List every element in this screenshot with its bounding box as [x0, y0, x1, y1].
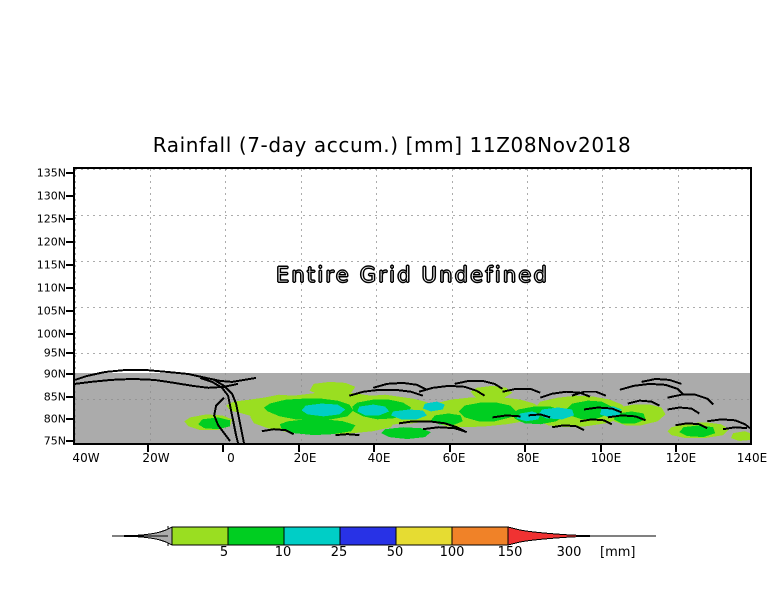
y-axis-tick-mark — [66, 195, 73, 197]
x-axis-tick-label: 100E — [591, 451, 622, 465]
colorbar-band-5-10 — [172, 527, 228, 545]
x-axis-tick-mark — [298, 445, 300, 452]
y-axis-tick-mark — [66, 373, 73, 375]
y-axis-tick-mark — [66, 352, 73, 354]
y-axis-tick-label: 100N — [37, 328, 66, 341]
x-axis-tick-label: 80E — [517, 451, 540, 465]
colorbar-tick-label: 300 — [557, 545, 582, 560]
y-axis-tick-label: 130N — [37, 190, 66, 203]
y-axis-tick-mark — [66, 333, 73, 335]
x-axis-tick-mark — [449, 445, 451, 452]
rainfall-svg — [75, 169, 750, 443]
rainfall-data-overlay — [75, 169, 750, 443]
y-axis-tick-mark — [66, 418, 73, 420]
x-axis-tick-label: 40E — [368, 451, 391, 465]
colorbar-high-arrow — [508, 527, 600, 545]
y-axis-tick-mark — [66, 172, 73, 174]
colorbar-tick-label: 50 — [387, 545, 404, 560]
y-axis-tick-label: 90N — [44, 368, 66, 381]
y-axis-tick-label: 125N — [37, 213, 66, 226]
chart-root: Rainfall (7-day accum.) [mm] 11Z08Nov201… — [0, 0, 784, 612]
y-axis-tick-mark — [66, 287, 73, 289]
y-axis-tick-mark — [66, 396, 73, 398]
y-axis-tick-label: 105N — [37, 305, 66, 318]
x-axis-tick-mark — [373, 445, 375, 452]
plot-area: Entire Grid Undefined — [73, 167, 752, 445]
x-axis-tick-mark — [222, 445, 224, 452]
x-axis-tick-label: 120E — [666, 451, 697, 465]
y-axis-tick-mark — [66, 264, 73, 266]
x-axis-tick-label: 40W — [72, 451, 99, 465]
y-axis-tick-label: 95N — [44, 347, 66, 360]
colorbar-tick-label: 25 — [331, 545, 348, 560]
colorbar-band-25-50 — [284, 527, 340, 545]
y-axis-tick-mark — [66, 241, 73, 243]
x-axis-tick-label: 20W — [142, 451, 169, 465]
y-axis-tick-mark — [66, 310, 73, 312]
colorbar-tick-label: 100 — [440, 545, 465, 560]
y-axis-tick-label: 80N — [44, 413, 66, 426]
x-axis-tick-label: 0 — [227, 451, 235, 465]
y-axis-tick-label: 75N — [44, 435, 66, 448]
colorbar-unit-label: [mm] — [600, 545, 635, 560]
y-axis-tick-label: 110N — [37, 282, 66, 295]
y-axis-tick-label: 115N — [37, 259, 66, 272]
x-axis-tick-label: 140E — [737, 451, 768, 465]
colorbar-tick-label: 10 — [275, 545, 292, 560]
x-axis-tick-mark — [600, 445, 602, 452]
x-axis-tick-label: 60E — [443, 451, 466, 465]
gridline-horizontal — [75, 443, 750, 444]
y-axis-tick-mark — [66, 440, 73, 442]
colorbar-band-100-150 — [396, 527, 452, 545]
colorbar-band-10-25 — [228, 527, 284, 545]
x-axis-tick-label: 20E — [294, 451, 317, 465]
x-axis-tick-mark — [147, 445, 149, 452]
colorbar-tick-label: 5 — [220, 545, 228, 560]
x-axis-tick-mark — [524, 445, 526, 452]
colorbar-band-150-300 — [452, 527, 508, 545]
x-axis-tick-mark — [675, 445, 677, 452]
colorbar-band-50-100 — [340, 527, 396, 545]
colorbar-tick-label: 150 — [498, 545, 523, 560]
y-axis-tick-label: 120N — [37, 236, 66, 249]
y-axis-tick-mark — [66, 218, 73, 220]
y-axis-tick-label: 135N — [37, 167, 66, 180]
plot-inner: Entire Grid Undefined — [75, 169, 750, 443]
y-axis-tick-label: 85N — [44, 391, 66, 404]
colorbar-low-arrow-shape — [112, 527, 172, 545]
page-title: Rainfall (7-day accum.) [mm] 11Z08Nov201… — [0, 133, 784, 157]
